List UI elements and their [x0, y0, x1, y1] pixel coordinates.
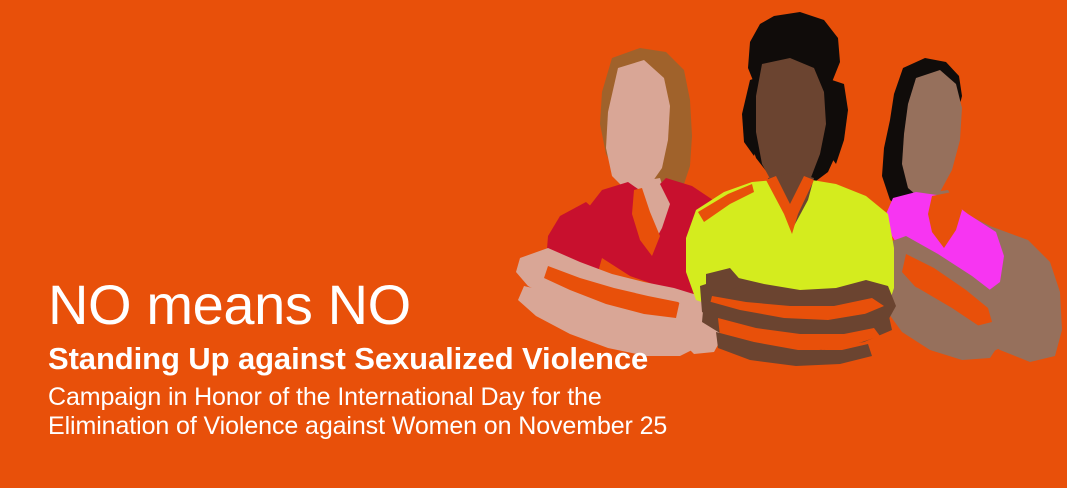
text-block: NO means NO Standing Up against Sexualiz… — [48, 277, 868, 441]
campaign-banner: NO means NO Standing Up against Sexualiz… — [0, 0, 1067, 488]
subtitle: Standing Up against Sexualized Violence — [48, 342, 868, 376]
description-line-2: Elimination of Violence against Women on… — [48, 412, 868, 441]
description-line-1: Campaign in Honor of the International D… — [48, 383, 868, 412]
page-title: NO means NO — [48, 277, 868, 333]
